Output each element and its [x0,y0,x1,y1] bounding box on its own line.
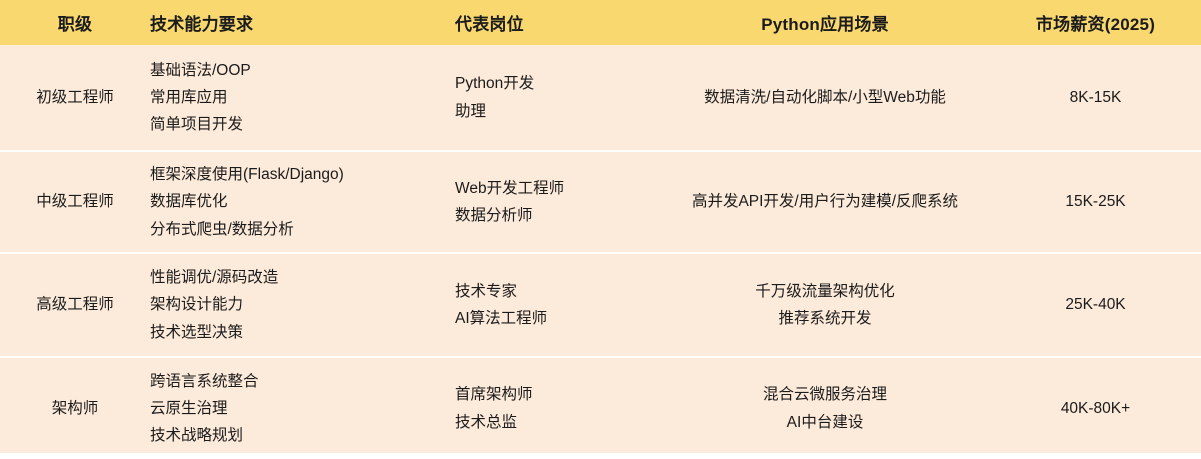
scenario-line-list: 千万级流量架构优化 推荐系统开发 [660,278,990,332]
role-line-list: 首席架构师 技术总监 [455,381,660,435]
skill-line: 数据库优化 [150,188,455,215]
cell-scenarios: 混合云微服务治理 AI中台建设 [660,357,990,453]
column-header-roles: 代表岗位 [455,0,660,45]
role-line-list: Web开发工程师 数据分析师 [455,175,660,229]
skill-line: 架构设计能力 [150,291,455,318]
skill-line: 简单项目开发 [150,111,455,138]
skill-line-list: 跨语言系统整合 云原生治理 技术战略规划 [150,368,455,449]
cell-skills: 跨语言系统整合 云原生治理 技术战略规划 [150,357,455,453]
table-row: 高级工程师 性能调优/源码改造 架构设计能力 技术选型决策 技术专家 AI算法工… [0,253,1201,357]
skill-line-list: 基础语法/OOP 常用库应用 简单项目开发 [150,57,455,138]
scenario-line: 高并发API开发/用户行为建模/反爬系统 [660,188,990,215]
skill-line: 框架深度使用(Flask/Django) [150,161,455,188]
role-line: Python开发 [455,70,660,97]
table-row: 中级工程师 框架深度使用(Flask/Django) 数据库优化 分布式爬虫/数… [0,151,1201,253]
skill-line: 跨语言系统整合 [150,368,455,395]
skill-line: 常用库应用 [150,84,455,111]
cell-salary: 25K-40K [990,253,1201,357]
scenario-line: 推荐系统开发 [660,305,990,332]
table-header: 职级 技术能力要求 代表岗位 Python应用场景 市场薪资(2025) [0,0,1201,45]
role-line: 技术总监 [455,409,660,436]
skill-line-list: 性能调优/源码改造 架构设计能力 技术选型决策 [150,264,455,345]
table-body: 初级工程师 基础语法/OOP 常用库应用 简单项目开发 Python开发 助理 [0,45,1201,453]
role-line: 助理 [455,98,660,125]
role-line-list: 技术专家 AI算法工程师 [455,278,660,332]
column-header-salary: 市场薪资(2025) [990,0,1201,45]
cell-salary: 8K-15K [990,45,1201,151]
skill-salary-table: 职级 技术能力要求 代表岗位 Python应用场景 市场薪资(2025) 初级工… [0,0,1201,453]
cell-skills: 性能调优/源码改造 架构设计能力 技术选型决策 [150,253,455,357]
column-header-skills: 技术能力要求 [150,0,455,45]
cell-salary: 40K-80K+ [990,357,1201,453]
skill-salary-table-container: 职级 技术能力要求 代表岗位 Python应用场景 市场薪资(2025) 初级工… [0,0,1201,453]
role-line: Web开发工程师 [455,175,660,202]
cell-roles: 首席架构师 技术总监 [455,357,660,453]
cell-skills: 基础语法/OOP 常用库应用 简单项目开发 [150,45,455,151]
role-line: 技术专家 [455,278,660,305]
cell-level: 初级工程师 [0,45,150,151]
scenario-line: 混合云微服务治理 [660,381,990,408]
role-line: 首席架构师 [455,381,660,408]
skill-line: 云原生治理 [150,395,455,422]
role-line-list: Python开发 助理 [455,70,660,124]
cell-level: 高级工程师 [0,253,150,357]
cell-skills: 框架深度使用(Flask/Django) 数据库优化 分布式爬虫/数据分析 [150,151,455,253]
skill-line-list: 框架深度使用(Flask/Django) 数据库优化 分布式爬虫/数据分析 [150,161,455,242]
table-header-row: 职级 技术能力要求 代表岗位 Python应用场景 市场薪资(2025) [0,0,1201,45]
scenario-line: 数据清洗/自动化脚本/小型Web功能 [660,84,990,111]
cell-level: 架构师 [0,357,150,453]
column-header-scenarios: Python应用场景 [660,0,990,45]
cell-level: 中级工程师 [0,151,150,253]
cell-roles: 技术专家 AI算法工程师 [455,253,660,357]
cell-scenarios: 高并发API开发/用户行为建模/反爬系统 [660,151,990,253]
skill-line: 技术战略规划 [150,422,455,449]
cell-roles: Python开发 助理 [455,45,660,151]
scenario-line-list: 混合云微服务治理 AI中台建设 [660,381,990,435]
scenario-line-list: 高并发API开发/用户行为建模/反爬系统 [660,188,990,215]
skill-line: 分布式爬虫/数据分析 [150,216,455,243]
scenario-line-list: 数据清洗/自动化脚本/小型Web功能 [660,84,990,111]
column-header-level: 职级 [0,0,150,45]
skill-line: 基础语法/OOP [150,57,455,84]
skill-line: 技术选型决策 [150,319,455,346]
cell-scenarios: 数据清洗/自动化脚本/小型Web功能 [660,45,990,151]
cell-salary: 15K-25K [990,151,1201,253]
scenario-line: 千万级流量架构优化 [660,278,990,305]
cell-scenarios: 千万级流量架构优化 推荐系统开发 [660,253,990,357]
table-row: 架构师 跨语言系统整合 云原生治理 技术战略规划 首席架构师 技术总监 [0,357,1201,453]
scenario-line: AI中台建设 [660,409,990,436]
cell-roles: Web开发工程师 数据分析师 [455,151,660,253]
role-line: 数据分析师 [455,202,660,229]
skill-line: 性能调优/源码改造 [150,264,455,291]
role-line: AI算法工程师 [455,305,660,332]
table-row: 初级工程师 基础语法/OOP 常用库应用 简单项目开发 Python开发 助理 [0,45,1201,151]
